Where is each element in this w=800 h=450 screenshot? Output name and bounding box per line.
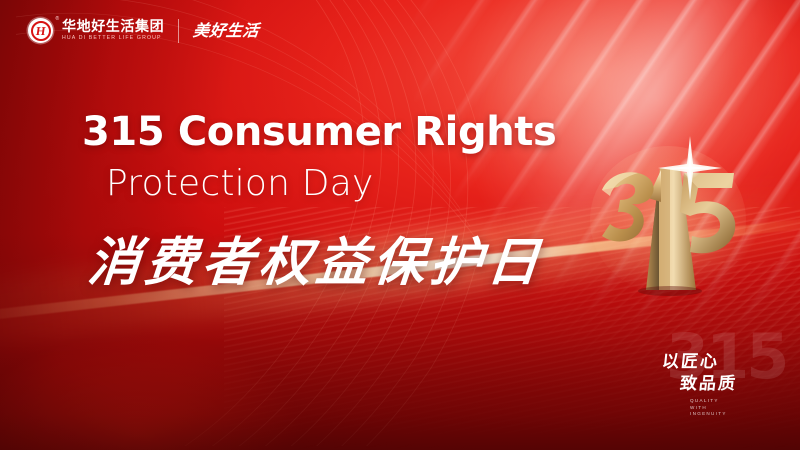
logo-slogan-cn: 美好生活 — [192, 23, 260, 39]
title-english-line-1: 315 Consumer Rights — [82, 112, 556, 153]
seal-chinese-line-1: 以匠心 — [661, 354, 720, 371]
logo-monogram-letter: H — [35, 25, 46, 37]
seal-english-line-2: WITH — [690, 405, 727, 410]
logo-divider — [178, 19, 179, 43]
seal-english-caption: QUALITY WITH INGENUITY — [690, 398, 727, 416]
headline-block: 315 Consumer Rights Protection Day 消费者权益… — [82, 112, 556, 289]
brand-logo-lockup: H ® 华地好生活集团 HUA DI BETTER LIFE GROUP 美好生… — [28, 18, 259, 43]
logo-wordmark: 华地好生活集团 HUA DI BETTER LIFE GROUP — [62, 20, 164, 41]
title-chinese: 消费者权益保护日 — [86, 237, 559, 289]
logo-company-name-cn: 华地好生活集团 — [62, 20, 164, 35]
quality-seal-emblem: 315 以匠心 致品质 QUALITY WITH INGENUITY — [660, 330, 778, 430]
logo-company-name-en: HUA DI BETTER LIFE GROUP — [62, 36, 164, 41]
promotional-banner: H ® 华地好生活集团 HUA DI BETTER LIFE GROUP 美好生… — [0, 0, 800, 450]
seal-english-line-1: QUALITY — [690, 398, 727, 403]
seal-chinese-line-2: 致品质 — [679, 376, 738, 393]
trademark-icon: ® — [55, 16, 59, 22]
title-english-line-2: Protection Day — [106, 165, 556, 203]
seal-english-line-3: INGENUITY — [690, 411, 727, 416]
golden-315-emblem — [588, 140, 748, 305]
logo-monogram-icon: H ® — [28, 18, 53, 43]
